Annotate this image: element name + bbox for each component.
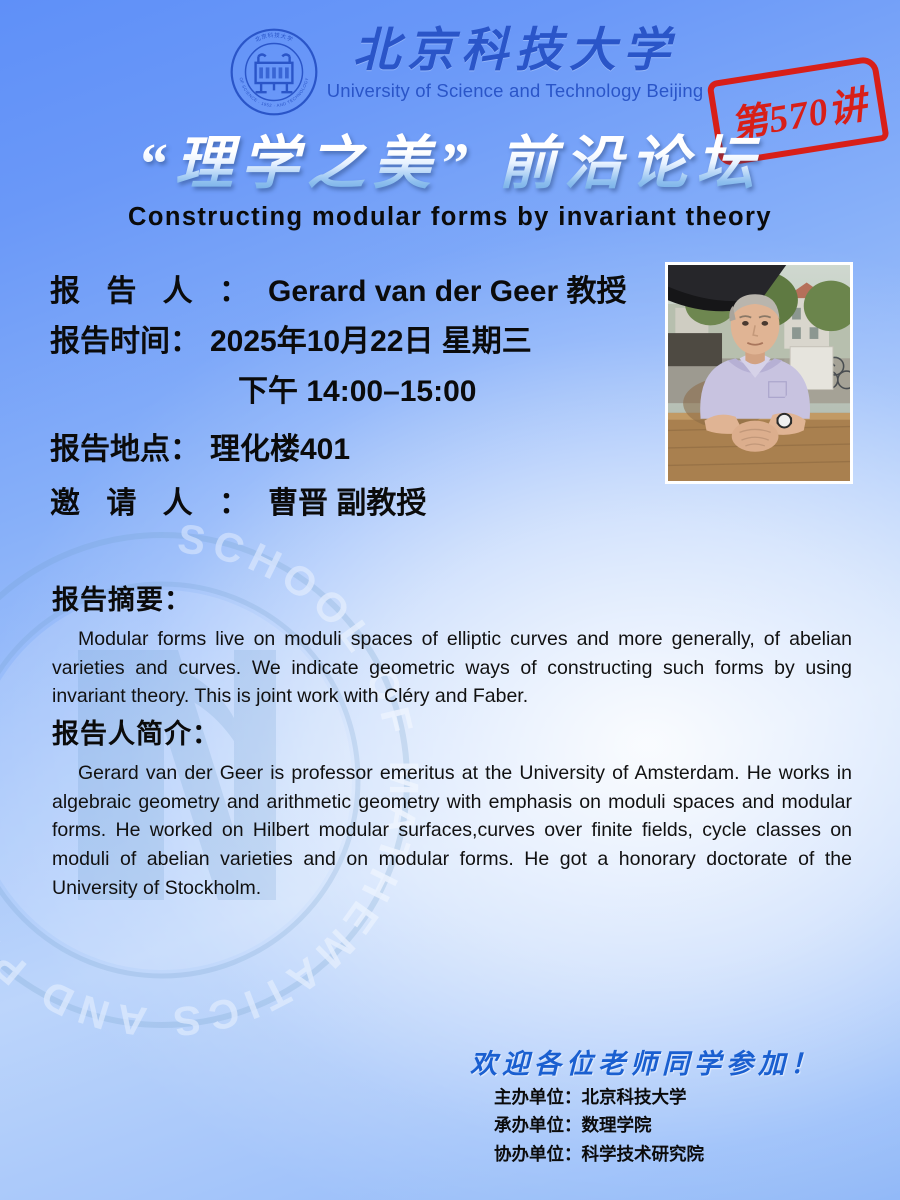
bio-heading: 报告人简介： [52, 712, 852, 751]
detail-row-venue: 报告地点： 理化楼401 [50, 424, 660, 468]
university-name-block: 北京科技大学 University of Science and Technol… [325, 24, 705, 102]
organizer-coorganizer: 协办单位：科学技术研究院 [494, 1140, 874, 1168]
detail-label-datetime: 报告时间： [50, 316, 200, 360]
university-name-en: University of Science and Technology Bei… [325, 80, 705, 102]
detail-label-speaker: 报 告 人 ： [50, 266, 258, 310]
svg-text:OF SCIENCE · 1952 · AND TECHNO: OF SCIENCE · 1952 · AND TECHNOLOGY [239, 77, 310, 108]
poster-header: 北京科技大学 OF SCIENCE · 1952 · AND TECHNOLOG… [0, 18, 900, 128]
bio-text: Gerard van der Geer is professor emeritu… [52, 759, 852, 902]
detail-row-inviter: 邀 请 人 ： 曹晋 副教授 [50, 478, 660, 522]
organizer-host: 主办单位：北京科技大学 [494, 1083, 874, 1111]
detail-value-inviter: 曹晋 副教授 [268, 478, 426, 522]
detail-value-speaker: Gerard van der Geer 教授 [268, 266, 626, 310]
ustb-seal-logo-icon: 北京科技大学 OF SCIENCE · 1952 · AND TECHNOLOG… [228, 26, 320, 118]
detail-value-time: 下午 14:00–15:00 [238, 366, 476, 410]
detail-value-venue: 理化楼401 [210, 424, 350, 468]
bio-section: 报告人简介： Gerard van der Geer is professor … [52, 712, 852, 902]
lecture-poster: SCHOOL OF MATHEMATICS AND PHYSICS [0, 0, 900, 1200]
detail-label-inviter: 邀 请 人 ： [50, 478, 258, 522]
abstract-heading: 报告摘要： [52, 578, 852, 617]
university-name-cn: 北京科技大学 [325, 24, 705, 78]
detail-row-datetime: 报告时间： 2025年10月22日 星期三 [50, 316, 660, 360]
organizer-list: 主办单位：北京科技大学 承办单位：数理学院 协办单位：科学技术研究院 [494, 1083, 874, 1168]
welcome-message: 欢迎各位老师同学参加！ [470, 1042, 870, 1081]
abstract-text: Modular forms live on moduli spaces of e… [52, 625, 852, 711]
forum-series-title: “理学之美” 前沿论坛 [0, 116, 900, 200]
abstract-section: 报告摘要： Modular forms live on moduli space… [52, 578, 852, 711]
speaker-photo-image [668, 265, 850, 481]
organizer-undertaker: 承办单位：数理学院 [494, 1111, 874, 1139]
detail-label-venue: 报告地点： [50, 424, 200, 468]
speaker-photo [665, 262, 853, 484]
detail-row-time: 下午 14:00–15:00 [50, 366, 660, 410]
talk-title: Constructing modular forms by invariant … [0, 203, 900, 232]
detail-row-speaker: 报 告 人 ： Gerard van der Geer 教授 [50, 266, 660, 310]
lecture-details: 报 告 人 ： Gerard van der Geer 教授 报告时间： 202… [50, 266, 660, 528]
detail-value-date: 2025年10月22日 星期三 [210, 316, 532, 360]
